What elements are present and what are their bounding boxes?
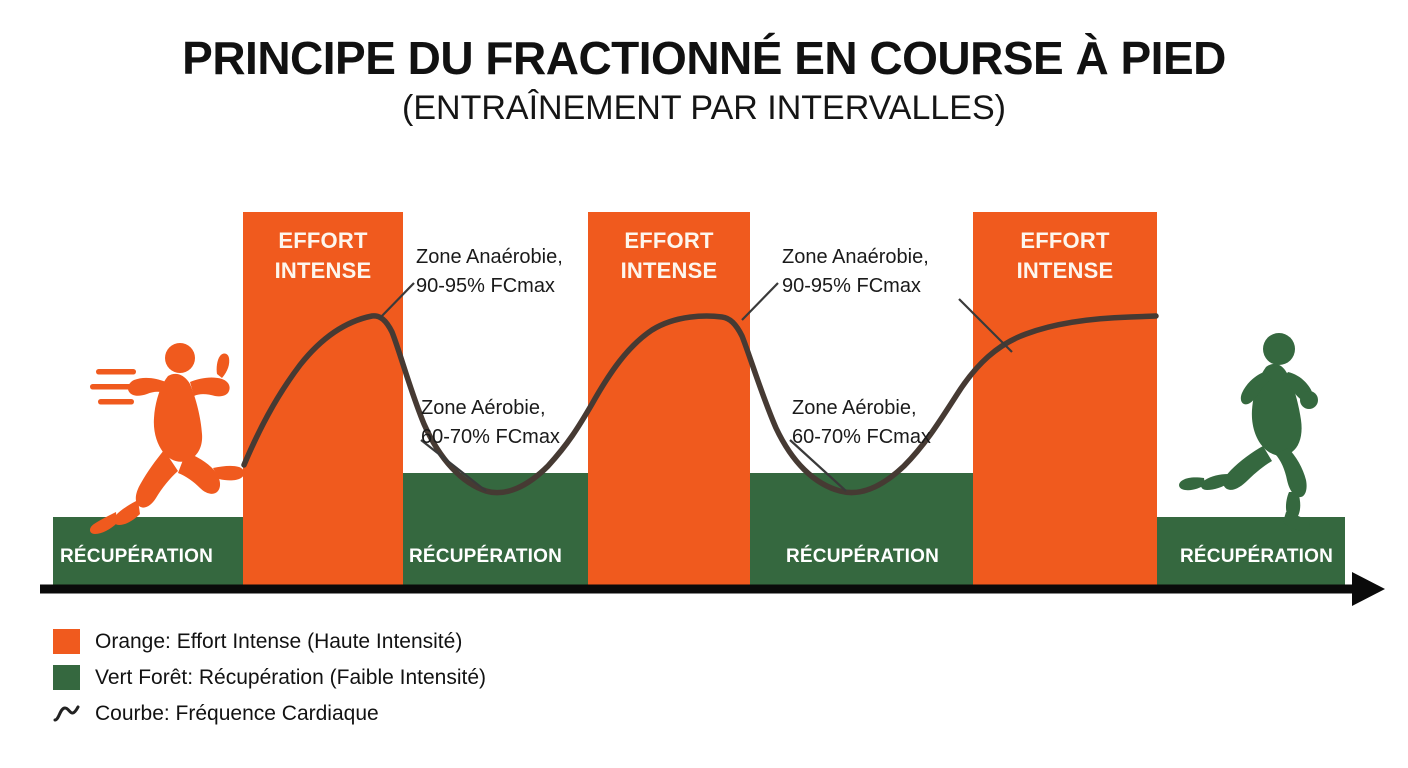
legend: Orange: Effort Intense (Haute Intensité)…	[53, 626, 486, 734]
bar-label-effort-2: EFFORT INTENSE	[621, 226, 718, 285]
bar-label-effort-3: EFFORT INTENSE	[1017, 226, 1114, 285]
legend-item-orange: Orange: Effort Intense (Haute Intensité)	[53, 626, 486, 657]
bar-label-effort-1: EFFORT INTENSE	[275, 226, 372, 285]
annotation-anaerobic-2: Zone Anaérobie, 90-95% FCmax	[782, 243, 929, 301]
bar-effort-3: EFFORT INTENSE	[973, 212, 1157, 588]
orange-swatch-icon	[53, 629, 80, 654]
bar-label-recuperation-2: RÉCUPÉRATION	[409, 546, 562, 568]
curve-icon	[53, 701, 80, 726]
interval-training-infographic: PRINCIPE DU FRACTIONNÉ EN COURSE À PIED …	[0, 0, 1408, 768]
bar-recuperation-3	[750, 473, 973, 588]
annotation-aerobic-2: Zone Aérobie, 60-70% FCmax	[792, 394, 931, 452]
runner-jogging-icon	[1179, 333, 1318, 531]
annotation-anaerobic-1: Zone Anaérobie, 90-95% FCmax	[416, 243, 563, 301]
bar-label-recuperation-1: RÉCUPÉRATION	[60, 546, 213, 568]
bar-label-recuperation-3: RÉCUPÉRATION	[786, 546, 939, 568]
legend-item-curve: Courbe: Fréquence Cardiaque	[53, 698, 486, 729]
legend-label-curve: Courbe: Fréquence Cardiaque	[95, 702, 379, 726]
legend-label-green: Vert Forêt: Récupération (Faible Intensi…	[95, 666, 486, 690]
legend-label-orange: Orange: Effort Intense (Haute Intensité)	[95, 630, 462, 654]
runner-sprinting-icon	[90, 343, 244, 534]
bar-label-recuperation-4: RÉCUPÉRATION	[1180, 546, 1333, 568]
bar-recuperation-2	[403, 473, 588, 588]
green-swatch-icon	[53, 665, 80, 690]
bar-effort-1: EFFORT INTENSE	[243, 212, 403, 588]
bar-effort-2: EFFORT INTENSE	[588, 212, 750, 588]
legend-item-green: Vert Forêt: Récupération (Faible Intensi…	[53, 662, 486, 693]
annotation-aerobic-1: Zone Aérobie, 60-70% FCmax	[421, 394, 560, 452]
